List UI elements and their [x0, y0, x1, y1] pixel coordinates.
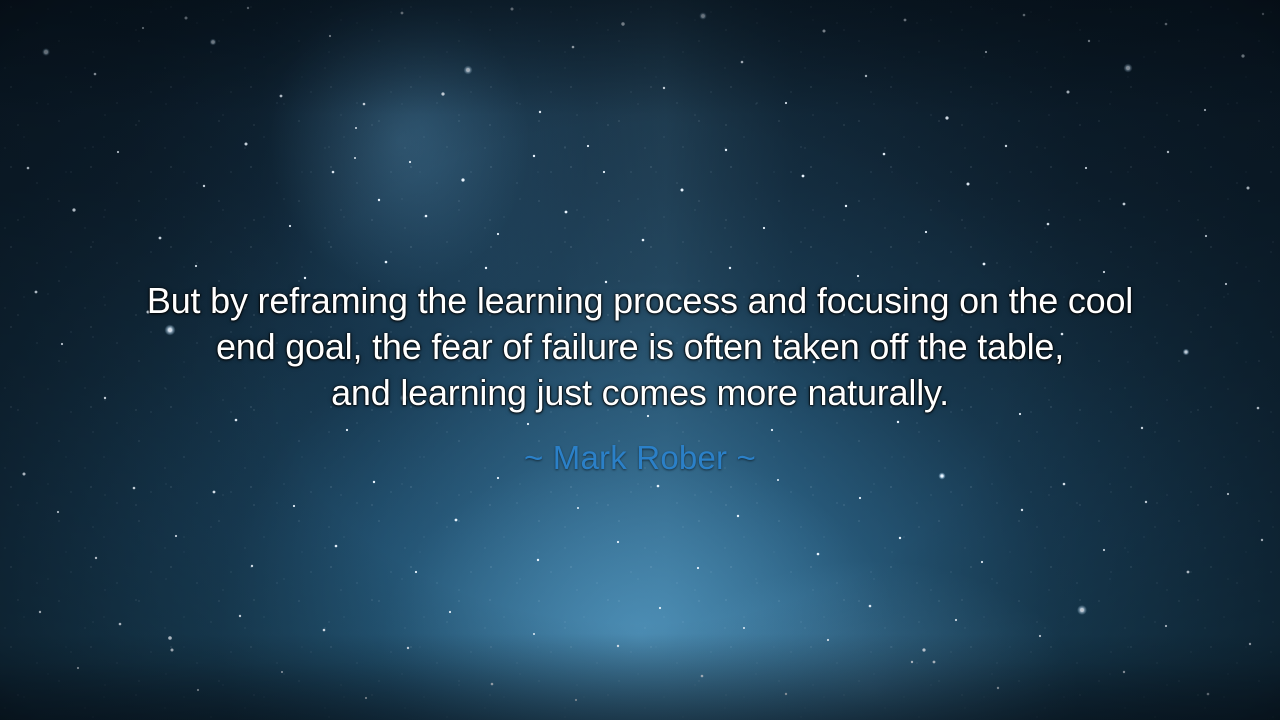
- quote-line-2: end goal, the fear of failure is often t…: [50, 324, 1230, 370]
- quote-text: But by reframing the learning process an…: [50, 278, 1230, 416]
- quote-line-1: But by reframing the learning process an…: [50, 278, 1230, 324]
- quote-slide: But by reframing the learning process an…: [0, 0, 1280, 720]
- quote-attribution: ~ Mark Rober ~: [524, 438, 756, 478]
- slide-content: But by reframing the learning process an…: [0, 0, 1280, 720]
- quote-line-3: and learning just comes more naturally.: [50, 370, 1230, 416]
